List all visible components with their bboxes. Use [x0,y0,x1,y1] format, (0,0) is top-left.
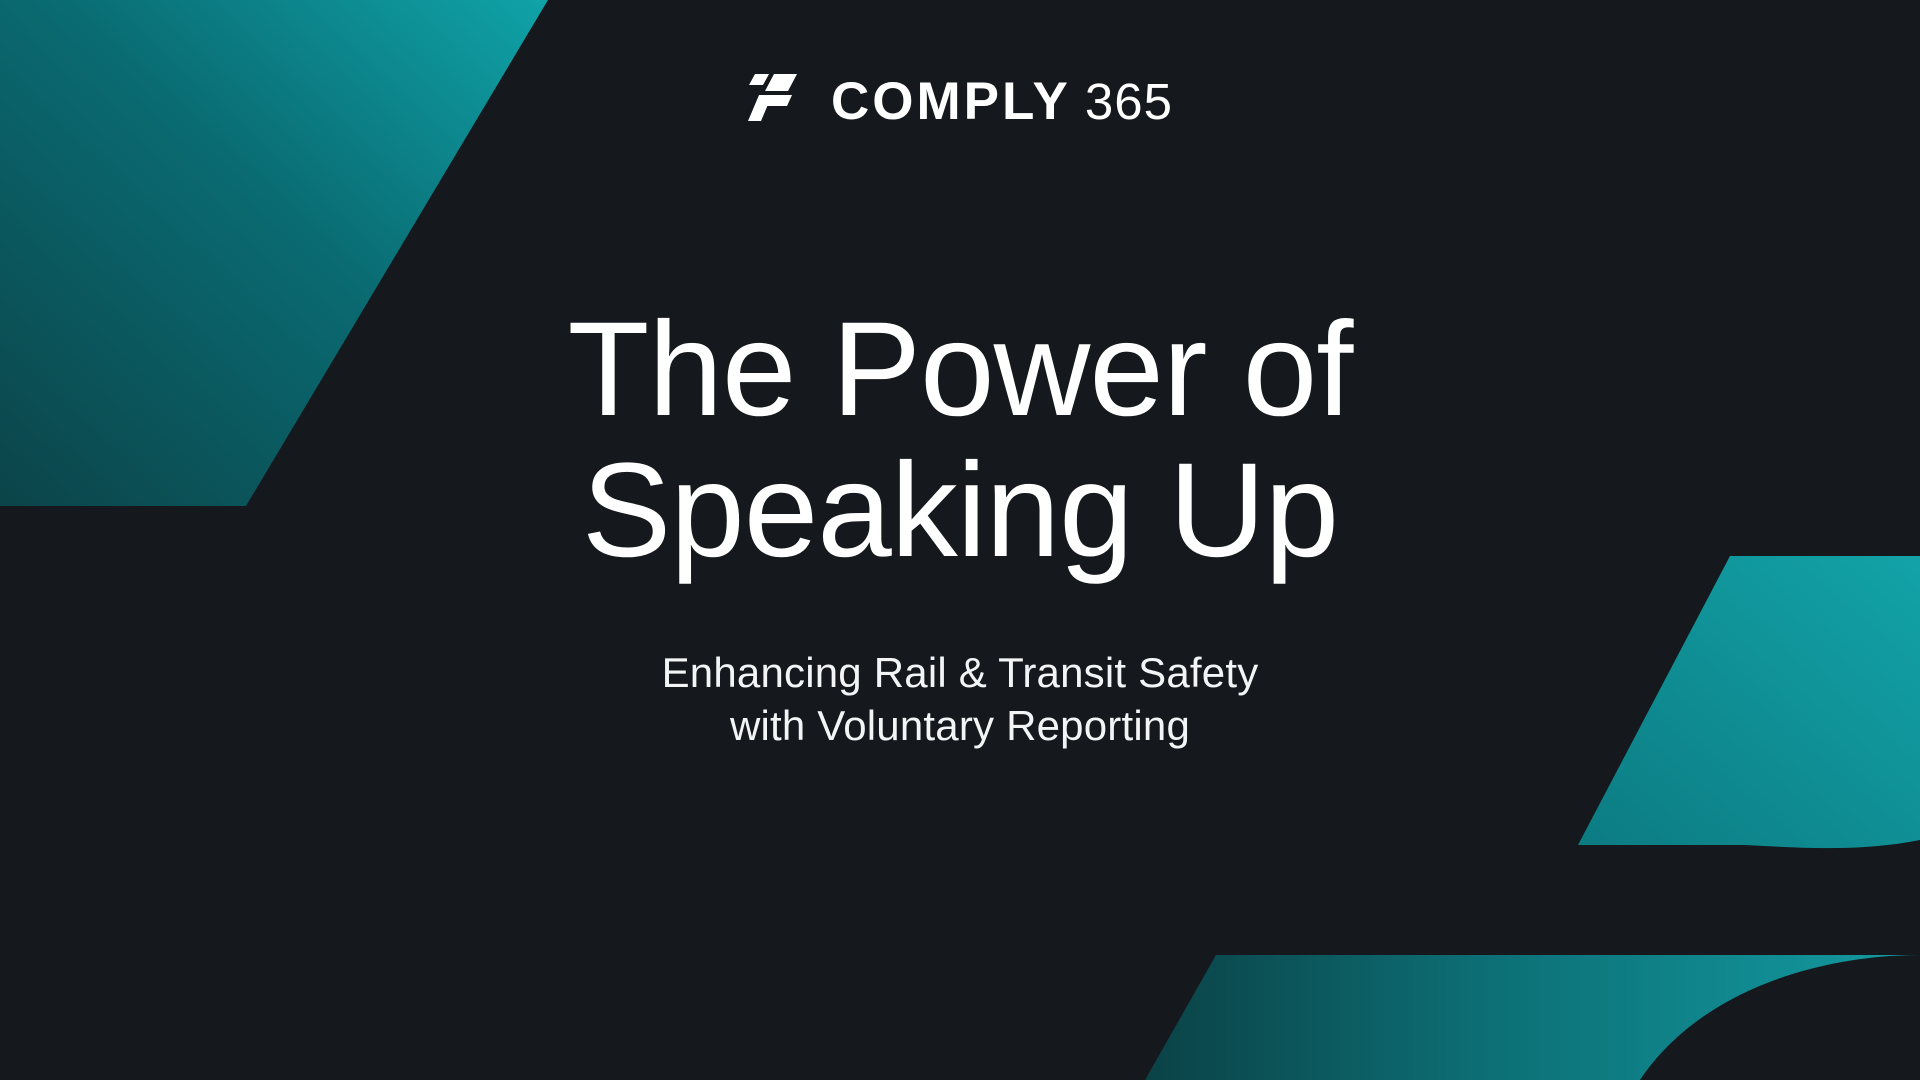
comply365-logo-mark-icon [747,74,809,128]
logo-wordmark: COMPLY 365 [831,75,1173,128]
slide-subtitle: Enhancing Rail & Transit Safety with Vol… [662,647,1259,752]
slide-subtitle-line-1: Enhancing Rail & Transit Safety [662,647,1259,700]
logo-name-primary: COMPLY [831,75,1071,128]
slide-content: The Power of Speaking Up Enhancing Rail … [0,300,1920,752]
brand-logo: COMPLY 365 [747,74,1173,128]
slide-subtitle-line-2: with Voluntary Reporting [662,700,1259,753]
bottom-right-teal-shape [1145,955,1920,1080]
slide-title-line-2: Speaking Up [568,441,1353,582]
slide-title-line-1: The Power of [568,300,1353,441]
logo-name-secondary: 365 [1085,76,1173,127]
slide-title: The Power of Speaking Up [568,300,1353,581]
presentation-slide: COMPLY 365 The Power of Speaking Up Enha… [0,0,1920,1080]
